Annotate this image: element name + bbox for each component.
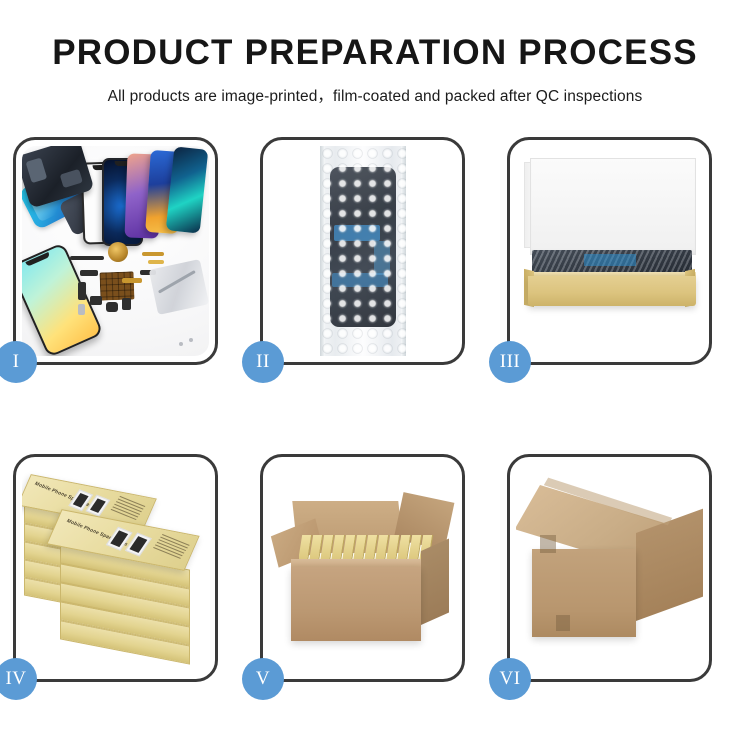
chip-grid-icon bbox=[100, 271, 135, 300]
carton-seam-icon bbox=[540, 535, 556, 553]
process-step-panel-2: II bbox=[260, 137, 465, 365]
box-stack-icon: Mobile Phone Spare Parts bbox=[22, 463, 209, 673]
panel-clip-2 bbox=[263, 140, 462, 362]
camera-module-icon bbox=[122, 298, 131, 310]
step-badge-2: II bbox=[242, 341, 284, 383]
carton-seam-icon bbox=[556, 615, 570, 631]
gold-connector-icon bbox=[148, 260, 164, 264]
carton-body-icon bbox=[291, 567, 421, 641]
carton-side-icon bbox=[421, 539, 449, 625]
flex-cable-icon bbox=[122, 278, 142, 283]
page-subtitle: All products are image-printed，film-coat… bbox=[0, 84, 750, 106]
screw-icon bbox=[179, 342, 183, 346]
photo-inner-box-packed bbox=[516, 146, 703, 356]
speaker-icon bbox=[106, 302, 118, 312]
box-print-textlines bbox=[152, 534, 190, 561]
process-step-grid: I II bbox=[13, 137, 737, 682]
photo-product-parts bbox=[22, 146, 209, 356]
photo-bubble-wrapped-part bbox=[269, 146, 456, 356]
process-step-panel-6: VI bbox=[507, 454, 712, 682]
photo-stacked-retail-boxes: Mobile Phone Spare Parts bbox=[22, 463, 209, 673]
product-preparation-page: PRODUCT PREPARATION PROCESS All products… bbox=[0, 0, 750, 750]
step-badge-5: V bbox=[242, 658, 284, 700]
box-lid-icon bbox=[530, 158, 696, 255]
item-blue-accent bbox=[584, 254, 636, 266]
step-badge-6: VI bbox=[489, 658, 531, 700]
repair-tool-icon bbox=[149, 259, 209, 315]
panel-clip-3 bbox=[510, 140, 709, 362]
phone-teal-icon bbox=[166, 146, 209, 233]
box-base-icon bbox=[528, 276, 696, 306]
panel-clip-1 bbox=[16, 140, 215, 362]
step-badge-4: IV bbox=[0, 658, 37, 700]
sim-tray-icon bbox=[78, 304, 85, 315]
carton-front-face-icon bbox=[532, 549, 636, 637]
page-header: PRODUCT PREPARATION PROCESS All products… bbox=[0, 0, 750, 106]
panel-clip-4: Mobile Phone Spare Parts bbox=[16, 457, 215, 679]
page-title: PRODUCT PREPARATION PROCESS bbox=[0, 34, 750, 73]
bubble-texture-icon bbox=[320, 146, 406, 356]
flex-cable-icon bbox=[70, 256, 104, 260]
step-badge-1: I bbox=[0, 341, 37, 383]
process-step-panel-5: V bbox=[260, 454, 465, 682]
step-badge-3: III bbox=[489, 341, 531, 383]
gold-connector-icon bbox=[142, 252, 164, 256]
photo-carton-filled bbox=[269, 463, 456, 673]
small-part-icon bbox=[78, 282, 86, 300]
process-step-panel-4: Mobile Phone Spare Parts bbox=[13, 454, 218, 682]
process-step-panel-3: III bbox=[507, 137, 712, 365]
vibration-motor-icon bbox=[108, 242, 128, 262]
photo-carton-sealed bbox=[516, 463, 703, 673]
panel-clip-5 bbox=[263, 457, 462, 679]
small-part-icon bbox=[80, 270, 98, 276]
small-part-icon bbox=[90, 296, 102, 305]
process-step-panel-1: I bbox=[13, 137, 218, 365]
panel-clip-6 bbox=[510, 457, 709, 679]
phone-notch-icon bbox=[25, 252, 50, 267]
screw-icon bbox=[189, 338, 193, 342]
box-print-textlines bbox=[109, 496, 145, 522]
